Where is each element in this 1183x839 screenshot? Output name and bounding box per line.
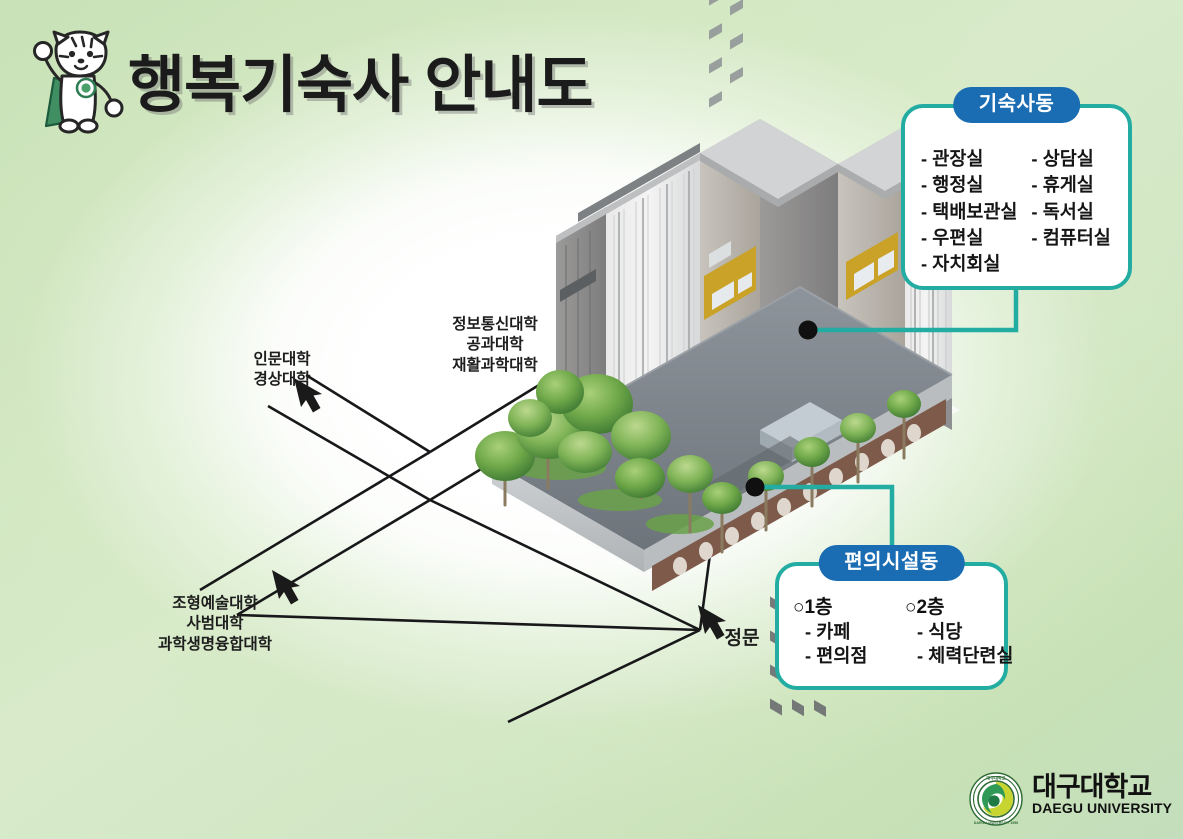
facility-item: - 휴게실 xyxy=(1031,172,1110,198)
facility-item: - 카페 xyxy=(793,620,897,644)
page-title: 행복기숙사 안내도 xyxy=(128,34,593,124)
logo-name-korean: 대구대학교 xyxy=(1032,773,1172,801)
road-label-line: 재활과학대학 xyxy=(430,356,560,376)
convenience-floor-1: ○1층 - 카페 - 편의점 xyxy=(793,596,897,668)
dormitory-facility-column-1: - 관장실 - 행정실 - 택배보관실 - 우편실 - 자치회실 xyxy=(921,146,1017,277)
road-label-line: 공과대학 xyxy=(430,335,560,355)
road-label-line: 조형예술대학 xyxy=(105,594,325,614)
road-label-line: 사범대학 xyxy=(105,614,325,634)
floor-heading: ○1층 xyxy=(793,596,897,620)
road-label-ict: 정보통신대학 공과대학 재활과학대학 xyxy=(430,315,560,376)
main-gate-label: 정문 xyxy=(712,626,772,651)
svg-text:DAEGU UNIVERSITY 1956: DAEGU UNIVERSITY 1956 xyxy=(974,821,1018,825)
dormitory-facility-column-2: - 상담실 - 휴게실 - 독서실 - 컴퓨터실 xyxy=(1031,146,1110,277)
callout-dormitory-badge: 기숙사동 xyxy=(953,87,1081,123)
convenience-floor-2: ○2층 - 식당 - 체력단련실 xyxy=(905,596,1009,668)
callout-convenience: 편의시설동 ○1층 - 카페 - 편의점 ○2층 - 식당 - 체력단련실 xyxy=(775,562,1008,690)
road-label-humanities: 인문대학 경상대학 xyxy=(222,350,342,391)
road-label-line: 정보통신대학 xyxy=(430,315,560,335)
convenience-marker-dot xyxy=(746,478,765,497)
facility-item: - 독서실 xyxy=(1031,199,1110,225)
facility-item: - 식당 xyxy=(905,620,1009,644)
facility-item: - 택배보관실 xyxy=(921,199,1017,225)
floor-heading: ○2층 xyxy=(905,596,1009,620)
facility-item: - 행정실 xyxy=(921,172,1017,198)
daegu-university-emblem-icon: 대구대학교 DAEGU UNIVERSITY 1956 xyxy=(968,771,1024,827)
road-label-line: 과학생명융합대학 xyxy=(105,635,325,655)
university-logo: 대구대학교 DAEGU UNIVERSITY 1956 대구대학교 DAEGU … xyxy=(968,771,1168,829)
svg-text:대구대학교: 대구대학교 xyxy=(986,774,1005,781)
road-label-line: 경상대학 xyxy=(222,370,342,390)
dormitory-guide-map: 행복기숙사 안내도 인문대학 경상대학 정보통신대학 공과대학 재활과학대학 조… xyxy=(0,0,1183,839)
facility-item: - 컴퓨터실 xyxy=(1031,225,1110,251)
callout-convenience-badge: 편의시설동 xyxy=(818,545,965,581)
callout-dormitory: 기숙사동 - 관장실 - 행정실 - 택배보관실 - 우편실 - 자치회실 - … xyxy=(901,104,1132,290)
page-header: 행복기숙사 안내도 xyxy=(0,0,700,150)
facility-item: - 편의점 xyxy=(793,644,897,668)
white-tiger-mascot-icon xyxy=(24,26,132,138)
road-label-line: 인문대학 xyxy=(222,350,342,370)
facility-item: - 자치회실 xyxy=(921,251,1017,277)
road-label-arts: 조형예술대학 사범대학 과학생명융합대학 xyxy=(105,594,325,655)
dorm-marker-dot xyxy=(799,321,818,340)
facility-item: - 관장실 xyxy=(921,146,1017,172)
facility-item: - 상담실 xyxy=(1031,146,1110,172)
facility-item: - 체력단련실 xyxy=(905,644,1009,668)
logo-name-english: DAEGU UNIVERSITY xyxy=(1032,801,1172,816)
facility-item: - 우편실 xyxy=(921,225,1017,251)
